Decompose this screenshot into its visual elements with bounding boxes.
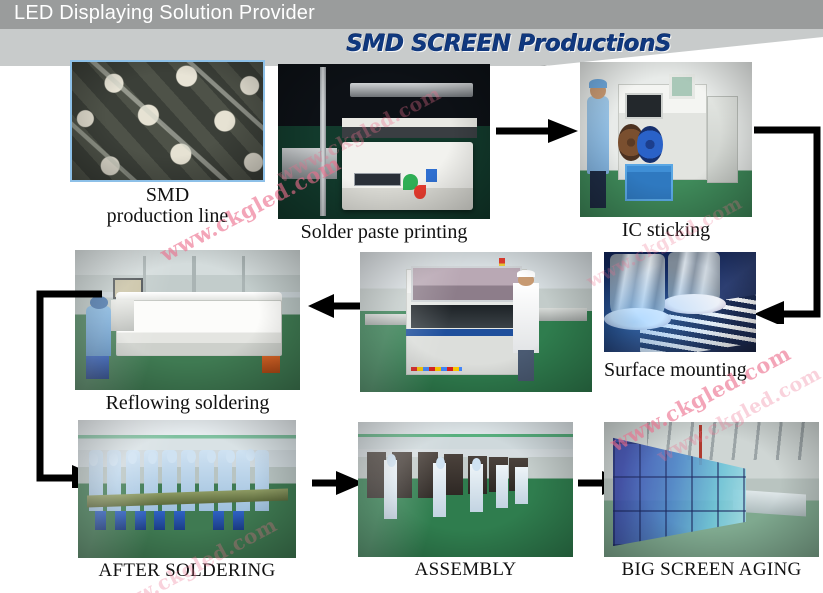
step-ic-sticking[interactable]: IC sticking bbox=[580, 62, 752, 241]
arrow-after-to-assembly bbox=[312, 470, 364, 496]
photo-ic-sticking bbox=[580, 62, 752, 217]
caption-big-screen-aging: BIG SCREEN AGING bbox=[604, 560, 819, 580]
caption-reflowing-soldering: Reflowing soldering bbox=[75, 393, 300, 414]
photo-after-soldering bbox=[78, 420, 296, 558]
photo-solder-paste-printing bbox=[278, 64, 490, 219]
step-surface-mounting[interactable]: Surface mounting bbox=[604, 252, 756, 381]
step-after-soldering[interactable]: AFTER SOLDERING bbox=[78, 420, 296, 581]
caption-surface-mounting: Surface mounting bbox=[604, 360, 756, 381]
step-smt-line[interactable] bbox=[360, 252, 592, 395]
arrow-solder-to-ic bbox=[496, 118, 578, 144]
page-title: SMD SCREEN ProductionS bbox=[0, 31, 823, 57]
photo-smt-line bbox=[360, 252, 592, 392]
caption-assembly: ASSEMBLY bbox=[358, 560, 573, 580]
step-assembly[interactable]: ASSEMBLY bbox=[358, 422, 573, 580]
photo-assembly bbox=[358, 422, 573, 557]
photo-surface-mounting bbox=[604, 252, 756, 352]
photo-reflowing-soldering bbox=[75, 250, 300, 390]
step-smd-production-line[interactable]: SMD production line bbox=[70, 60, 265, 227]
connector-ic-to-surface bbox=[752, 124, 823, 324]
caption-ic-sticking: IC sticking bbox=[580, 220, 752, 241]
caption-smd-production-line: SMD production line bbox=[70, 185, 265, 227]
step-solder-paste-printing[interactable]: Solder paste printing bbox=[278, 64, 490, 243]
photo-smd-production-line bbox=[70, 60, 265, 182]
step-reflowing-soldering[interactable]: Reflowing soldering bbox=[75, 250, 300, 414]
caption-solder-paste-printing: Solder paste printing bbox=[278, 222, 490, 243]
banner-label: LED Displaying Solution Provider bbox=[14, 2, 315, 25]
caption-after-soldering: AFTER SOLDERING bbox=[78, 561, 296, 581]
step-big-screen-aging[interactable]: BIG SCREEN AGING bbox=[604, 422, 819, 580]
photo-big-screen-aging bbox=[604, 422, 819, 557]
page-root: LED Displaying Solution Provider SMD SCR… bbox=[0, 0, 823, 593]
